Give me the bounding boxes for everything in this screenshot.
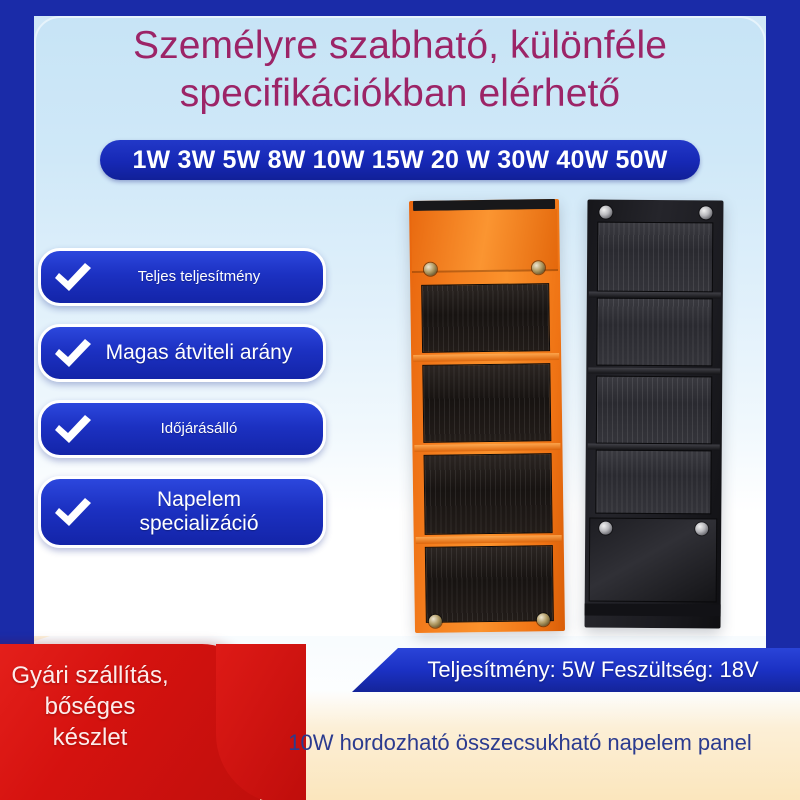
solar-cell-section [597,222,713,293]
feature-badge-label: Magas átviteli arány [95,341,309,365]
feature-badge-high-conversion-rate[interactable]: Magas átviteli arány [38,324,326,382]
grommet-icon [695,522,708,535]
spec-banner: Teljesítmény: 5W Feszültség: 18V [352,648,800,692]
solar-cell-section [595,450,711,515]
feature-badge-label: Időjárásálló [95,420,309,437]
solar-cell-section [596,376,712,445]
grommet-icon [699,206,712,219]
solar-cell-section [421,283,550,353]
solar-cell-section [425,545,554,623]
grommet-icon [599,206,612,219]
solar-cell-section [424,453,553,535]
solar-cell-section [596,298,712,367]
frame-right-border [766,0,800,652]
ribbon-line-3: készlet [0,722,220,753]
product-image-black-panel [585,200,724,629]
check-icon [51,336,95,370]
solar-cell-section [422,363,551,443]
factory-shipping-text: Gyári szállítás, bőséges készlet [0,660,220,753]
grommet-icon [424,263,437,276]
feature-badge-label: Napelem specializáció [95,488,309,536]
feature-badge-weatherproof[interactable]: Időjárásálló [38,400,326,458]
ribbon-line-2: bőséges [0,691,220,722]
page-title-line-1: Személyre szabható, különféle [133,24,667,67]
page-title-line-2: specifikációkban elérhető [40,70,760,118]
ribbon-line-1: Gyári szállítás, [0,660,220,691]
grommet-icon [599,522,612,535]
grommet-icon [532,261,545,274]
feature-list: Teljes teljesítmény Magas átviteli arány… [38,248,326,566]
frame-top-border [0,0,800,16]
feature-badge-solar-specialization[interactable]: Napelem specializáció [38,476,326,548]
frame-left-border [0,0,34,652]
grommet-icon [537,613,550,626]
product-caption: 10W hordozható összecsukható napelem pan… [240,730,800,756]
grommet-icon [429,615,442,628]
wattage-options-label: 1W 3W 5W 8W 10W 15W 20 W 30W 40W 50W [132,146,667,175]
product-promo-poster: Személyre szabható, különféle specifikác… [0,0,800,800]
feature-badge-label: Teljes teljesítmény [95,268,309,285]
fold-seam [588,368,720,375]
wattage-options-pill: 1W 3W 5W 8W 10W 15W 20 W 30W 40W 50W [100,140,700,180]
page-title: Személyre szabható, különféle specifikác… [40,22,760,118]
check-icon [51,260,95,294]
spec-banner-label: Teljesítmény: 5W Feszültség: 18V [393,657,758,683]
feature-badge-full-power[interactable]: Teljes teljesítmény [38,248,326,306]
check-icon [51,412,95,446]
product-image-orange-panel [409,199,565,633]
black-panel-hem [585,604,721,617]
check-icon [51,495,95,529]
